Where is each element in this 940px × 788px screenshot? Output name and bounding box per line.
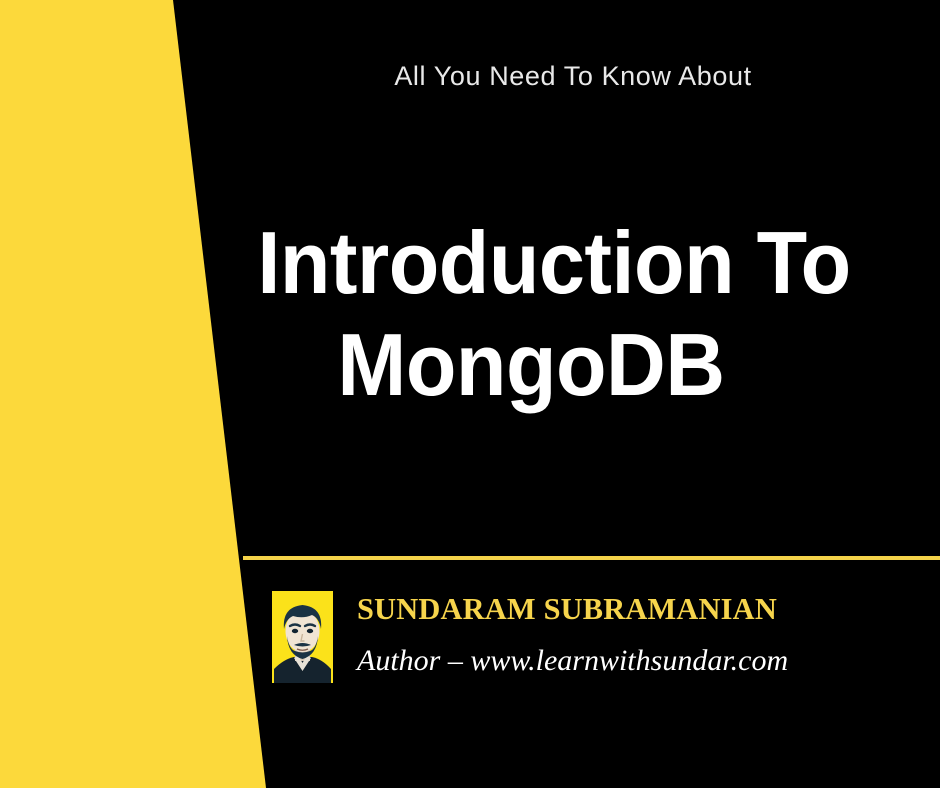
author-website: Author – www.learnwithsundar.com bbox=[357, 646, 788, 676]
author-details: SUNDARAM SUBRAMANIAN Author – www.learnw… bbox=[357, 589, 788, 676]
presentation-slide: All You Need To Know About Introduction … bbox=[0, 0, 940, 788]
slide-title: Introduction To MongoDB bbox=[200, 212, 900, 416]
author-footer: SUNDARAM SUBRAMANIAN Author – www.learnw… bbox=[272, 589, 788, 683]
avatar-portrait-icon bbox=[272, 591, 333, 683]
slide-subtitle: All You Need To Know About bbox=[290, 62, 856, 92]
footer-divider-rule bbox=[243, 556, 940, 560]
slide-title-line-2: MongoDB bbox=[184, 314, 878, 416]
author-name: SUNDARAM SUBRAMANIAN bbox=[357, 593, 780, 624]
slide-title-line-1: Introduction To bbox=[229, 212, 879, 314]
avatar bbox=[272, 591, 333, 683]
